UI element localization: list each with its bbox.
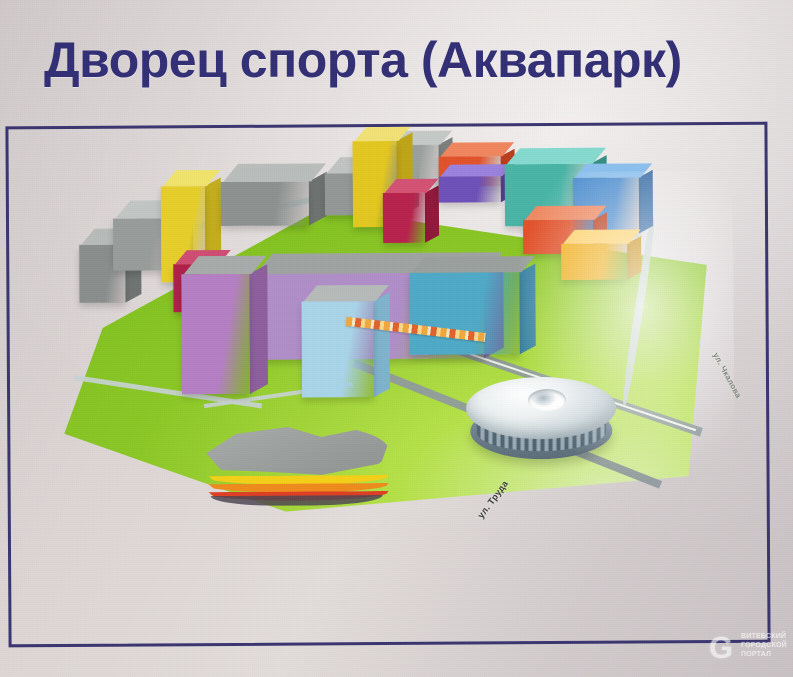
building-side-face: [249, 264, 268, 394]
building-block: [439, 176, 501, 202]
frame-inner: ул. Труда ул. Чкалова: [8, 125, 767, 645]
building-block: [561, 244, 627, 280]
curved-mall-building: [202, 423, 393, 520]
building-roof: [440, 164, 512, 176]
aquapark-dome: [466, 377, 617, 464]
building-block: [383, 193, 425, 243]
watermark-line-3: ПОРТАЛ: [741, 650, 793, 659]
building-roof: [440, 142, 514, 156]
building-roof: [575, 163, 653, 177]
building-roof: [563, 229, 641, 243]
building-block: [181, 274, 250, 394]
building-roof: [507, 148, 606, 165]
building-side-face: [639, 170, 653, 234]
building-front-face: [561, 244, 627, 280]
mall-plinth: [211, 495, 383, 506]
building-block: [409, 272, 519, 355]
masterplan-render: ул. Труда ул. Чкалова: [52, 125, 734, 525]
building-roof: [223, 163, 326, 182]
page-title: Дворец спорта (Аквапарк): [44, 34, 764, 87]
building-block: [301, 301, 374, 397]
building-front-face: [409, 272, 519, 355]
building-side-face: [425, 185, 439, 243]
building-roof: [525, 206, 607, 220]
building-front-face: [383, 193, 425, 243]
building-front-face: [439, 176, 501, 202]
building-side-face: [373, 292, 390, 397]
building-front-face: [301, 301, 374, 397]
building-front-face: [221, 181, 309, 226]
mall-roof: [202, 423, 388, 480]
poster-surface: Дворец спорта (Аквапарк): [0, 0, 793, 677]
building-roof: [304, 285, 389, 302]
building-roof: [411, 256, 534, 273]
dome-oculus: [528, 389, 566, 411]
building-block: [221, 181, 309, 226]
building-side-face: [519, 264, 535, 355]
building-front-face: [181, 274, 250, 394]
content-frame: ул. Труда ул. Чкалова: [5, 122, 770, 648]
